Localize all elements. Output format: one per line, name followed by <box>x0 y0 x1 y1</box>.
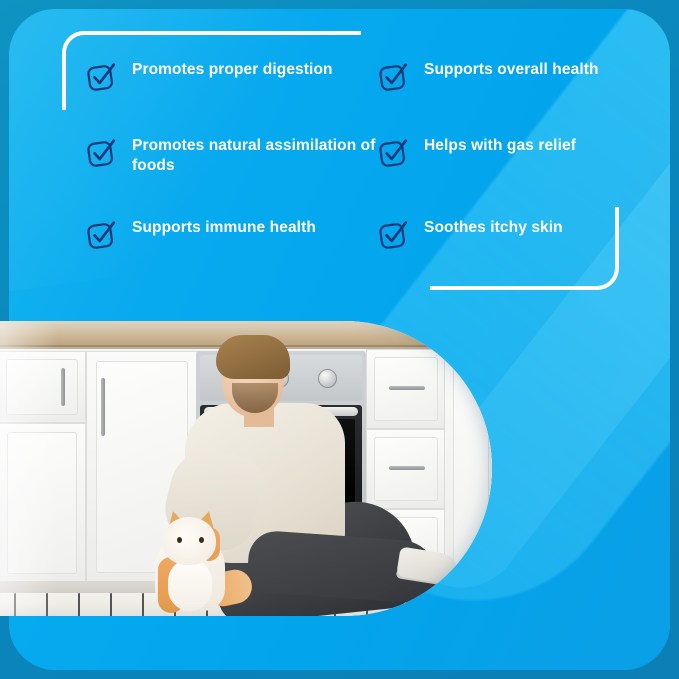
benefit-label: Helps with gas relief <box>424 134 576 156</box>
check-badge-icon <box>84 136 118 170</box>
benefit-item-skin: Soothes itchy skin <box>376 216 624 252</box>
lifestyle-photo: PROBIOTIC FOR CATS <box>0 321 492 616</box>
benefit-label: Promotes proper digestion <box>132 58 333 80</box>
benefit-item-overall: Supports overall health <box>376 58 624 94</box>
check-badge-icon <box>376 136 410 170</box>
benefit-item-digestion: Promotes proper digestion <box>84 58 376 94</box>
benefit-item-gas: Helps with gas relief <box>376 134 624 176</box>
benefit-label: Soothes itchy skin <box>424 216 563 238</box>
benefits-list: Promotes proper digestion Supports overa… <box>84 58 624 252</box>
benefit-item-assimilation: Promotes natural assimilation of foods <box>84 134 376 176</box>
check-badge-icon <box>376 218 410 252</box>
benefit-label: Supports immune health <box>132 216 316 238</box>
benefit-label: Supports overall health <box>424 58 599 80</box>
benefit-label: Promotes natural assimilation of foods <box>132 134 376 176</box>
photo-inner-shadow <box>0 321 492 616</box>
check-badge-icon <box>84 60 118 94</box>
check-badge-icon <box>376 60 410 94</box>
product-feature-graphic: Promotes proper digestion Supports overa… <box>0 0 679 679</box>
benefit-item-immune: Supports immune health <box>84 216 376 252</box>
check-badge-icon <box>84 218 118 252</box>
